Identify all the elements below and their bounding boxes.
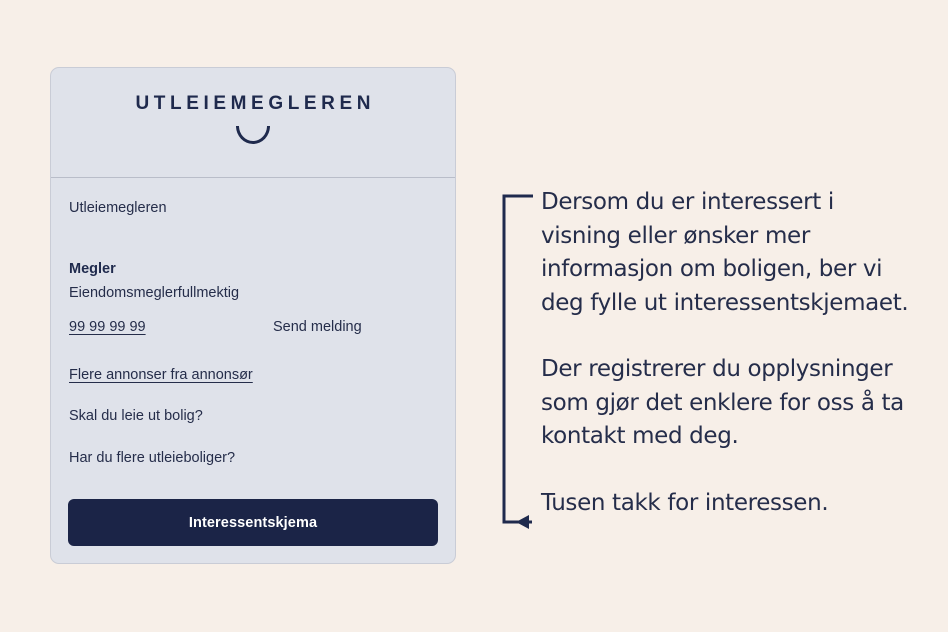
card-header: UTLEIEMEGLEREN [51, 68, 455, 178]
interessentskjema-button[interactable]: Interessentskjema [68, 499, 438, 546]
contact-row: 99 99 99 99 Send melding [69, 319, 437, 335]
annotation-paragraph-1: Dersom du er interessert i visning eller… [541, 186, 911, 320]
connector-path [504, 196, 533, 522]
related-links-list: Flere annonser fra annonsør Skal du leie… [69, 367, 437, 467]
annotation-paragraph-2: Der registrerer du opplysninger som gjør… [541, 353, 911, 454]
broker-job-title: Eiendomsmeglerfullmektig [69, 284, 437, 304]
annotation-text-block: Dersom du er interessert i visning eller… [541, 186, 911, 520]
multiple-rentals-link[interactable]: Har du flere utleieboliger? [69, 450, 235, 467]
smile-arc-icon [236, 126, 270, 144]
card-body: Utleiemegleren Megler Eiendomsmeglerfull… [51, 178, 455, 467]
rent-out-home-link[interactable]: Skal du leie ut bolig? [69, 408, 203, 425]
annotation-paragraph-3: Tusen takk for interessen. [541, 487, 911, 521]
brand-wordmark: UTLEIEMEGLEREN [131, 94, 375, 113]
broker-contact-card: UTLEIEMEGLEREN Utleiemegleren Megler Eie… [50, 67, 456, 564]
screenshot-root: UTLEIEMEGLEREN Utleiemegleren Megler Eie… [0, 0, 948, 632]
connector-arrowhead [516, 515, 529, 529]
send-message-link[interactable]: Send melding [273, 319, 362, 335]
more-listings-link[interactable]: Flere annonser fra annonsør [69, 367, 253, 384]
broker-block: Megler Eiendomsmeglerfullmektig 99 99 99… [69, 260, 437, 335]
phone-number-link[interactable]: 99 99 99 99 [69, 319, 273, 335]
broker-role-label: Megler [69, 260, 437, 280]
agency-name: Utleiemegleren [69, 199, 437, 218]
